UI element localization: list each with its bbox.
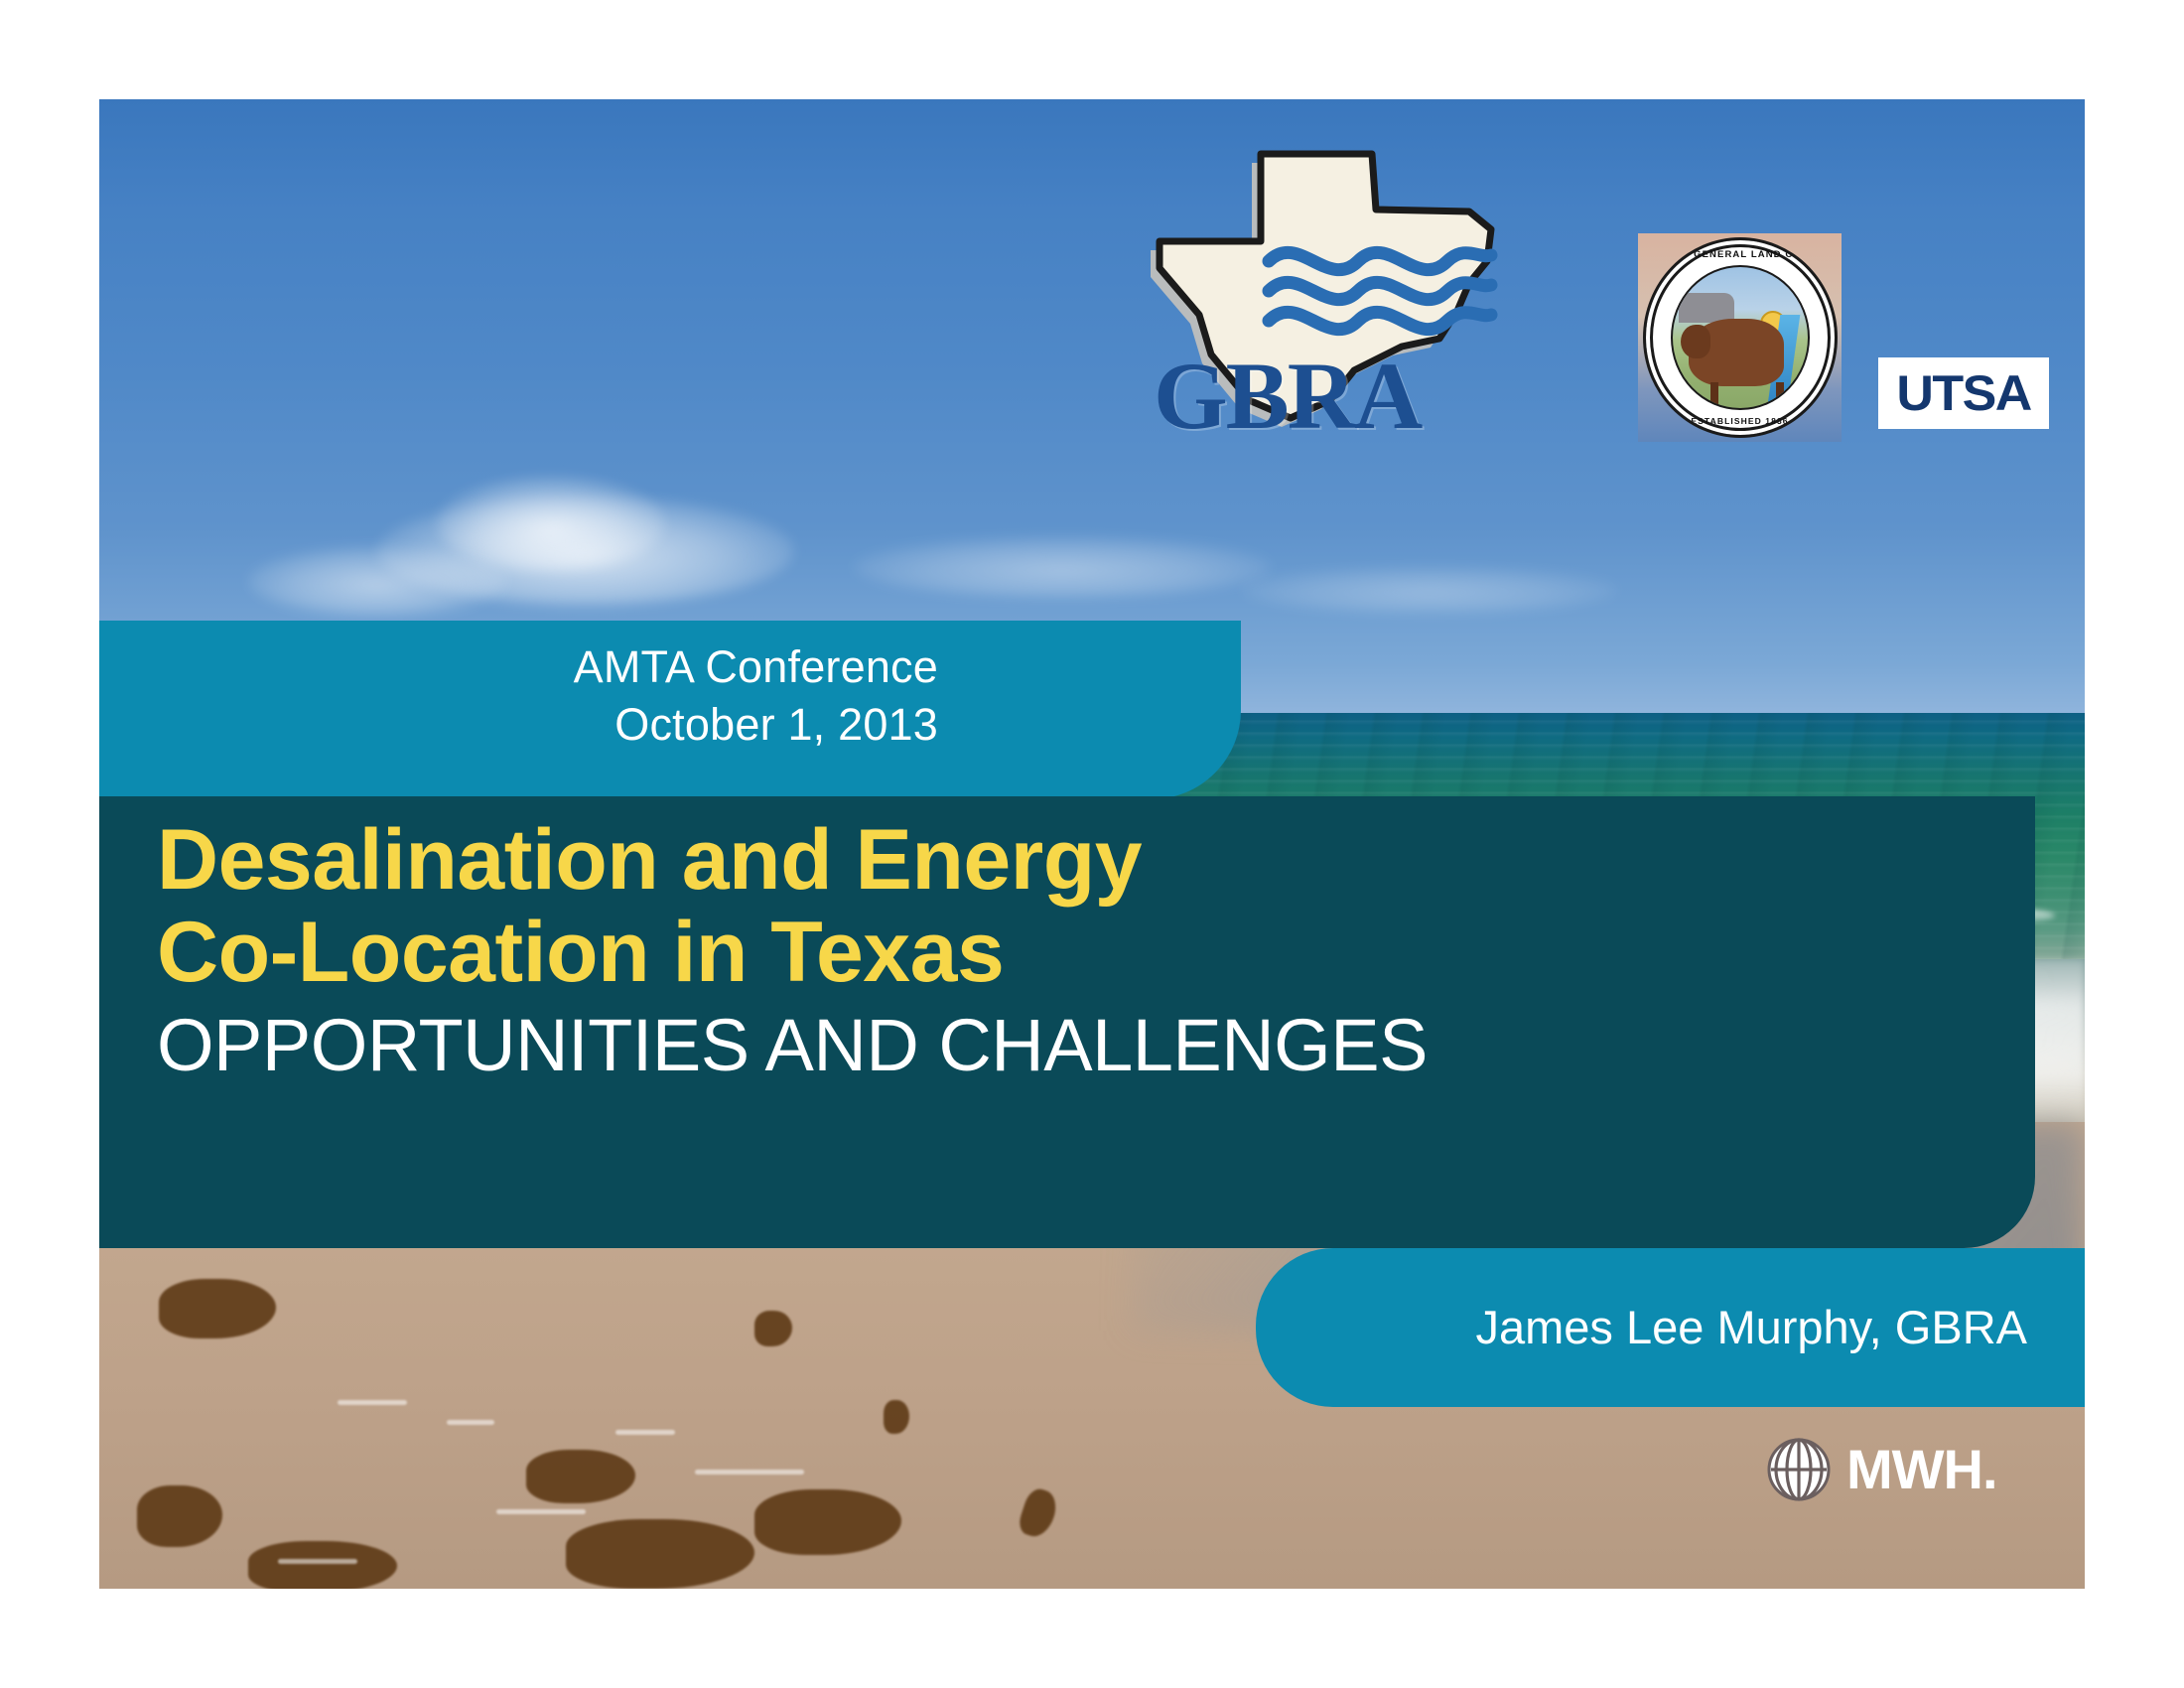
shell-fragment [695, 1470, 804, 1475]
title-block: Desalination and Energy Co-Location in T… [99, 796, 2035, 1248]
seal-rim-text-top: TEXAS GENERAL LAND OFFICE [1646, 249, 1835, 260]
texas-general-land-office-seal: TEXAS GENERAL LAND OFFICE ESTABLISHED 18… [1638, 233, 1842, 442]
cloud [248, 546, 506, 616]
conference-banner: AMTA Conference October 1, 2013 [99, 621, 1241, 799]
shell-fragment [496, 1509, 586, 1514]
globe-icon [1767, 1438, 1831, 1501]
mwh-wordmark: MWH. [1846, 1442, 1997, 1497]
gbra-logo: GBRA [1142, 134, 1608, 432]
seal-vignette [1671, 265, 1810, 410]
conference-name: AMTA Conference [99, 638, 938, 696]
shell-fragment [278, 1559, 357, 1564]
title-slide: GBRA TEXAS GENERAL LAND OFFICE ESTABLISH… [99, 99, 2085, 1589]
bison-icon [1689, 319, 1784, 386]
logo-row: GBRA TEXAS GENERAL LAND OFFICE ESTABLISH… [1142, 134, 1966, 452]
page-title: Desalination and Energy Co-Location in T… [157, 814, 2035, 999]
utsa-wordmark: UTSA [1896, 364, 2030, 422]
seal-rim-text-bottom: ESTABLISHED 1836 [1646, 416, 1835, 426]
shell-fragment [447, 1420, 494, 1425]
shell-fragment [338, 1400, 407, 1405]
utsa-logo: UTSA [1878, 357, 2049, 429]
seaweed-debris [248, 1541, 397, 1589]
gbra-wordmark: GBRA [1154, 349, 1421, 444]
page-subtitle: OPPORTUNITIES AND CHALLENGES [157, 1007, 2035, 1084]
cloud [854, 536, 1271, 598]
seal-ring: TEXAS GENERAL LAND OFFICE ESTABLISHED 18… [1643, 237, 1838, 438]
mwh-logo: MWH. [1767, 1438, 1997, 1501]
cloud [1241, 566, 1618, 614]
presenter-banner: James Lee Murphy, GBRA [1256, 1248, 2085, 1407]
conference-date: October 1, 2013 [99, 696, 938, 754]
shell-fragment [615, 1430, 675, 1435]
